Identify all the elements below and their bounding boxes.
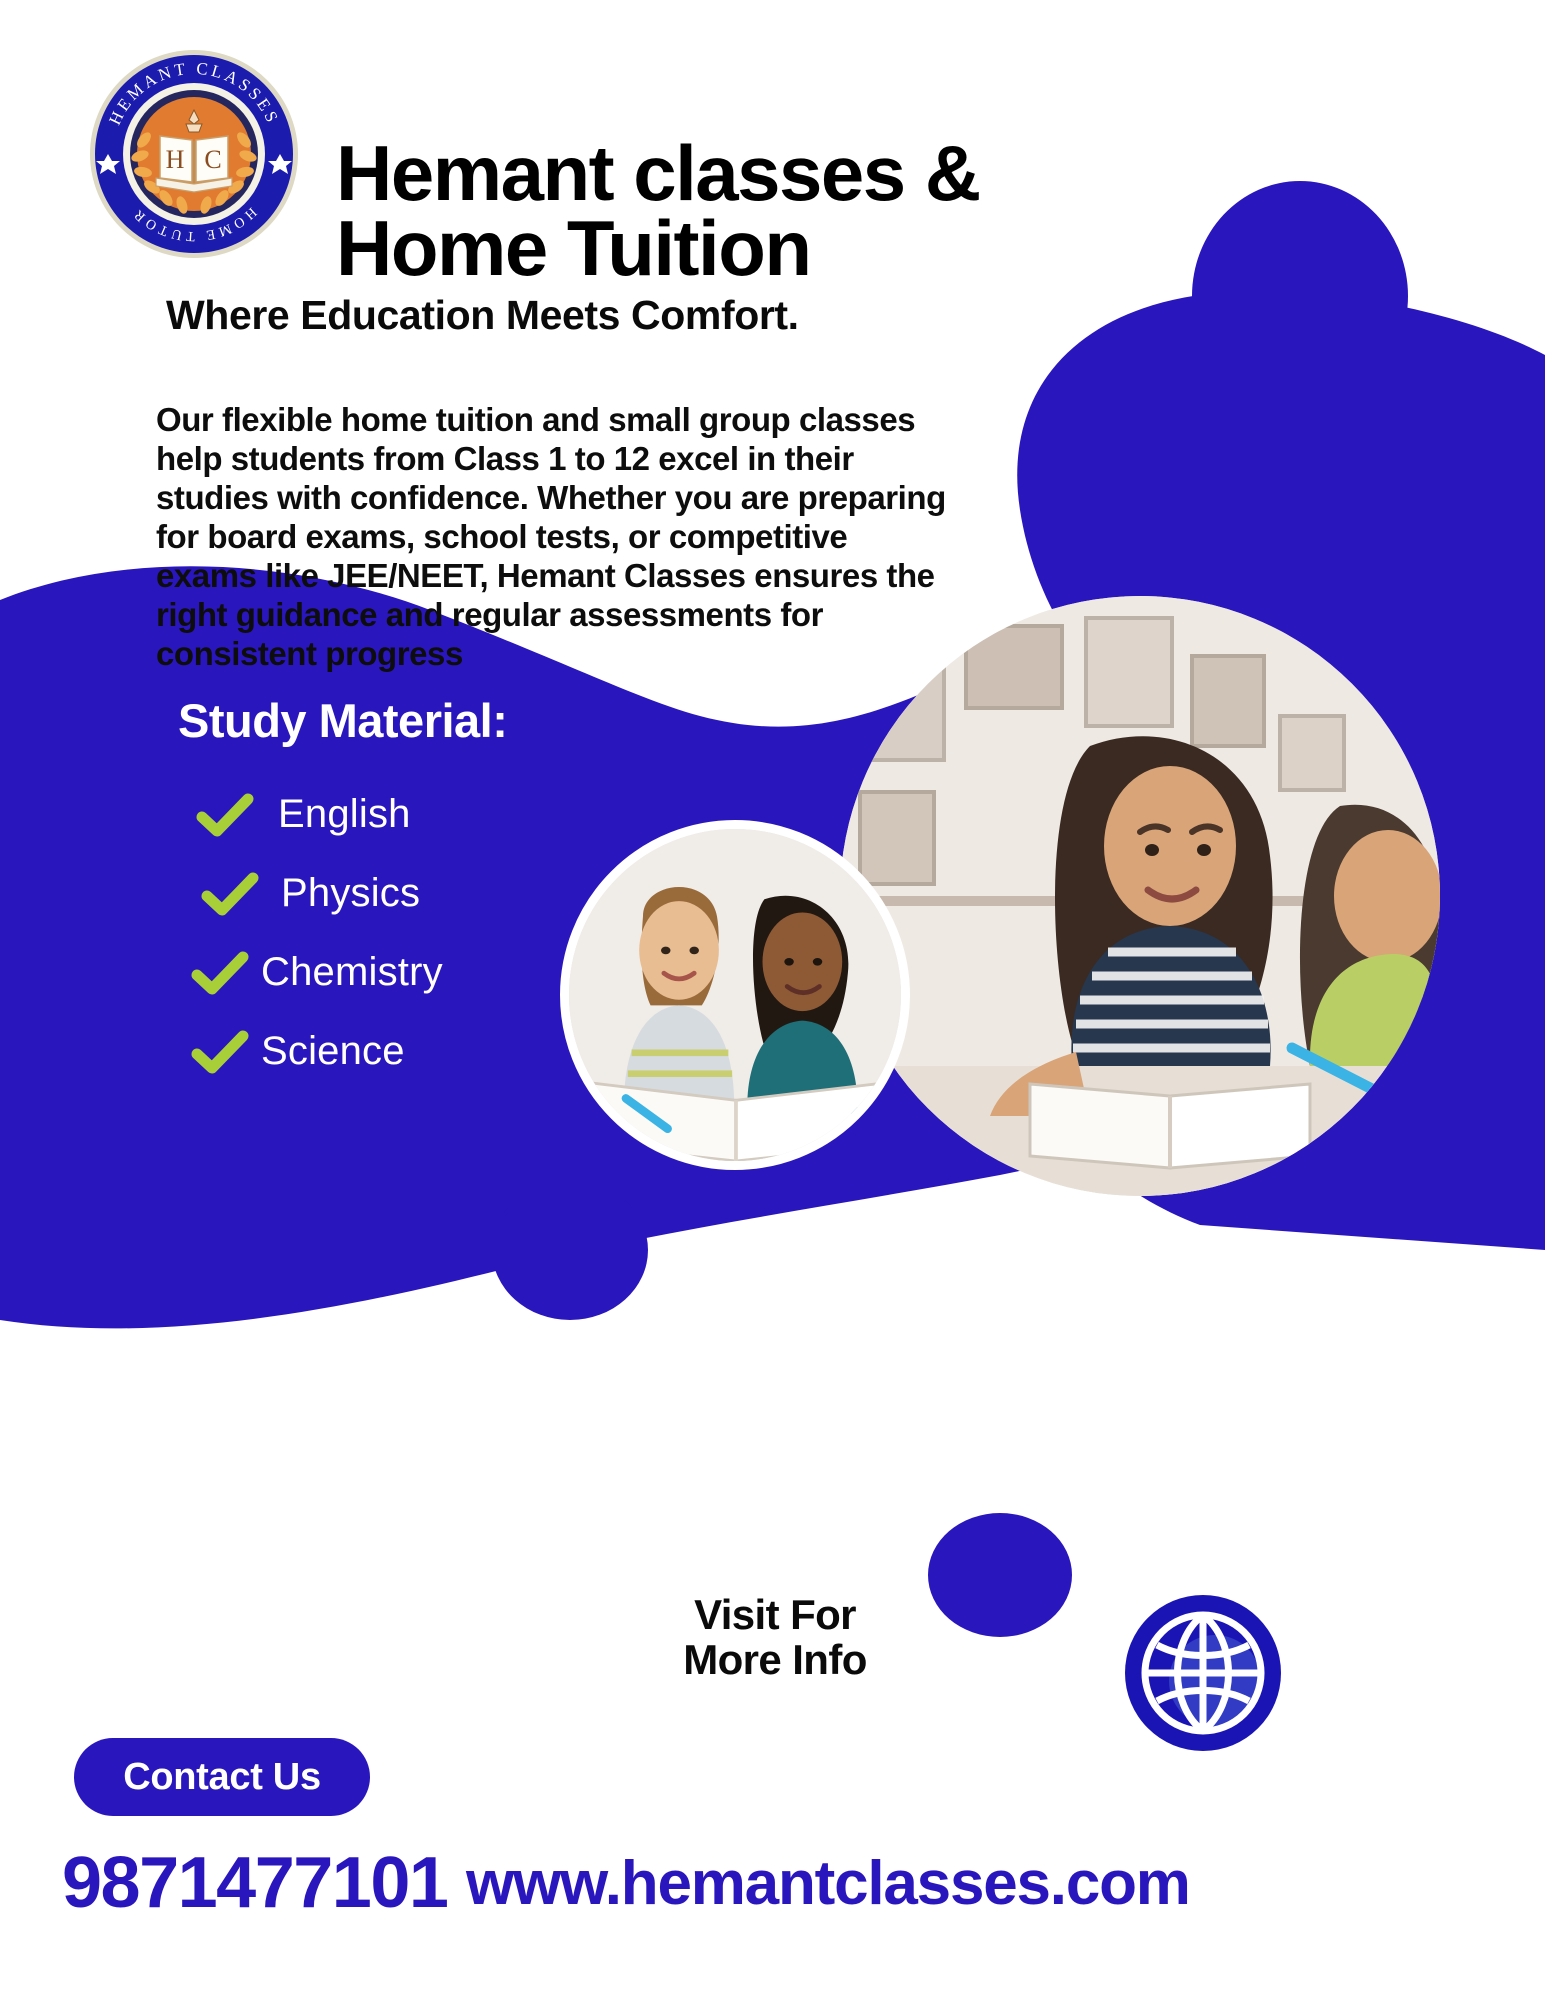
- subject-label: Chemistry: [261, 950, 443, 995]
- contact-us-label: Contact Us: [123, 1756, 321, 1799]
- visit-line-1: Visit For: [694, 1591, 856, 1638]
- poster-canvas: H C HEMANT CLASSES HOME TUTOR Hemant cla…: [0, 0, 1545, 2000]
- phone-number[interactable]: 9871477101: [62, 1842, 447, 1924]
- blob-dot-near-globe: [928, 1513, 1072, 1637]
- page-title: Hemant classes & Home Tuition: [336, 136, 1116, 286]
- globe-icon[interactable]: [1123, 1593, 1283, 1753]
- website-url[interactable]: www.hemantclasses.com: [466, 1848, 1190, 1919]
- subject-label: Science: [261, 1029, 405, 1074]
- subject-label: Physics: [281, 871, 420, 916]
- check-icon: [191, 951, 249, 995]
- tagline: Where Education Meets Comfort.: [166, 292, 1026, 339]
- visit-line-2: More Info: [683, 1636, 867, 1683]
- logo-monogram-h: H: [166, 145, 185, 174]
- check-icon: [196, 793, 254, 837]
- check-icon: [191, 1030, 249, 1074]
- subject-label: English: [278, 792, 411, 837]
- tutor-teaching-students-photo: [840, 596, 1440, 1196]
- visit-for-more-info: Visit For More Info: [650, 1592, 900, 1683]
- title-line-2: Home Tuition: [336, 211, 1116, 286]
- contact-us-button[interactable]: Contact Us: [74, 1738, 370, 1816]
- study-material-heading: Study Material:: [178, 693, 507, 748]
- two-students-reading-book-photo: [560, 820, 910, 1170]
- blob-small-circle-bottom: [492, 1180, 648, 1320]
- brand-logo: H C HEMANT CLASSES HOME TUTOR: [88, 48, 300, 260]
- logo-monogram-c: C: [204, 145, 221, 174]
- list-item: English: [196, 775, 666, 854]
- body-paragraph: Our flexible home tuition and small grou…: [156, 401, 946, 674]
- check-icon: [201, 872, 259, 916]
- open-book-icon: H C: [156, 136, 232, 192]
